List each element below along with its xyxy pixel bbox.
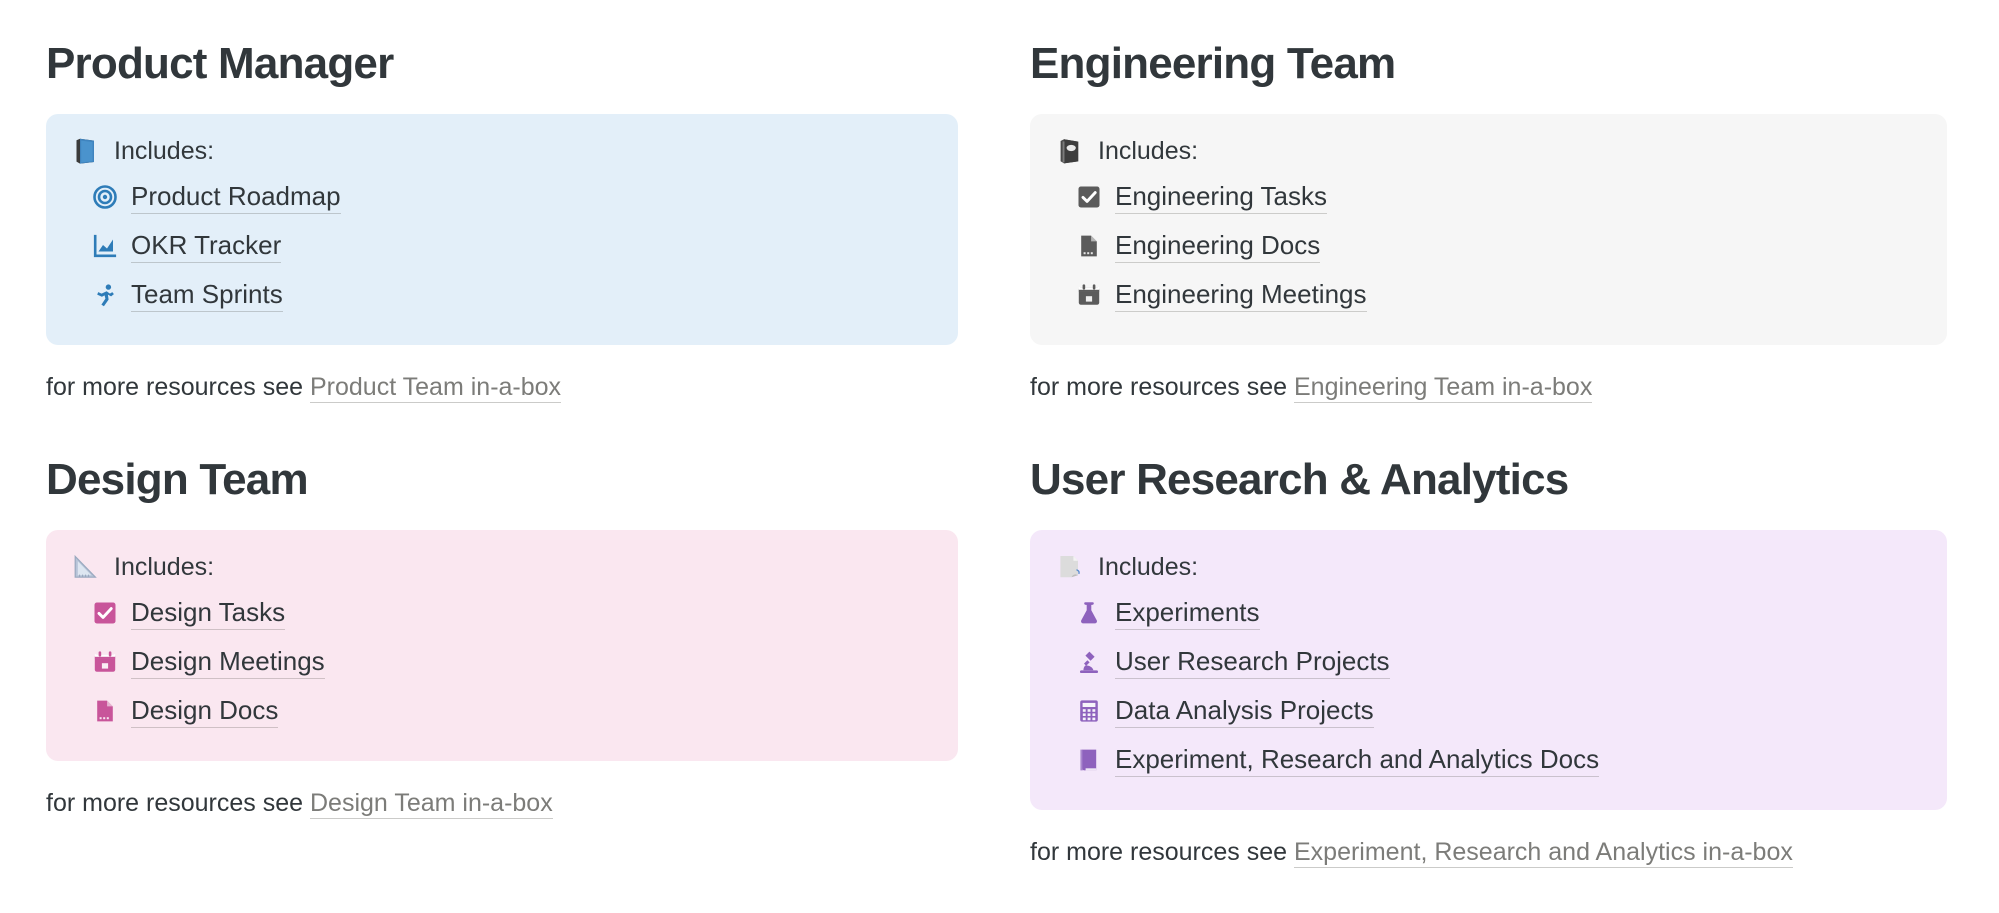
page-root: Product ManagerIncludes:Product RoadmapO…: [0, 0, 1999, 913]
includes-list: Engineering TasksEngineering DocsEnginee…: [1054, 172, 1921, 319]
list-item[interactable]: Engineering Meetings: [1076, 270, 1921, 319]
list-item[interactable]: User Research Projects: [1076, 637, 1921, 686]
item-link[interactable]: OKR Tracker: [131, 229, 281, 264]
item-link[interactable]: Engineering Tasks: [1115, 180, 1327, 215]
section-product-manager: Product ManagerIncludes:Product RoadmapO…: [46, 40, 958, 404]
flask-icon: [1076, 600, 1102, 626]
list-item[interactable]: Experiments: [1076, 588, 1921, 637]
footnote: for more resources see Design Team in-a-…: [46, 787, 958, 820]
footnote-link[interactable]: Product Team in-a-box: [310, 373, 561, 403]
microscope-icon: [1076, 649, 1102, 675]
section-user-research-analytics: User Research & AnalyticsIncludes:Experi…: [1030, 456, 1947, 869]
sections-grid: Product ManagerIncludes:Product RoadmapO…: [0, 0, 1999, 869]
target-icon: [92, 184, 118, 210]
closed-book-icon: [70, 136, 100, 166]
section-title-design-team: Design Team: [46, 456, 958, 504]
card-engineering-team: Includes:Engineering TasksEngineering Do…: [1030, 114, 1947, 345]
item-link[interactable]: Engineering Docs: [1115, 229, 1320, 264]
list-item[interactable]: Engineering Docs: [1076, 221, 1921, 270]
includes-list: Design TasksDesign MeetingsDesign Docs: [70, 588, 932, 735]
footnote-prefix: for more resources see: [46, 373, 303, 401]
footnote-link[interactable]: Design Team in-a-box: [310, 789, 553, 819]
section-title-engineering-team: Engineering Team: [1030, 40, 1947, 88]
item-link[interactable]: Experiments: [1115, 596, 1260, 631]
includes-label: Includes:: [114, 552, 214, 582]
calendar-icon: [1076, 282, 1102, 308]
chart-increasing-icon: [92, 233, 118, 259]
card-design-team: Includes:Design TasksDesign MeetingsDesi…: [46, 530, 958, 761]
list-item[interactable]: Design Meetings: [92, 637, 932, 686]
page-with-curl-icon: [1054, 552, 1084, 582]
footnote: for more resources see Product Team in-a…: [46, 371, 958, 404]
notebook-icon: [1054, 136, 1084, 166]
footnote-prefix: for more resources see: [1030, 838, 1287, 866]
list-item[interactable]: Design Tasks: [92, 588, 932, 637]
item-link[interactable]: Engineering Meetings: [1115, 278, 1367, 313]
item-link[interactable]: Experiment, Research and Analytics Docs: [1115, 743, 1599, 778]
checkbox-checked-icon: [1076, 184, 1102, 210]
item-link[interactable]: Design Docs: [131, 694, 278, 729]
item-link[interactable]: User Research Projects: [1115, 645, 1390, 680]
footnote: for more resources see Experiment, Resea…: [1030, 836, 1947, 869]
section-engineering-team: Engineering TeamIncludes:Engineering Tas…: [1030, 40, 1947, 404]
list-item[interactable]: Product Roadmap: [92, 172, 932, 221]
card-user-research-analytics: Includes:ExperimentsUser Research Projec…: [1030, 530, 1947, 810]
includes-label: Includes:: [1098, 136, 1198, 166]
footnote-link[interactable]: Engineering Team in-a-box: [1294, 373, 1592, 403]
runner-icon: [92, 282, 118, 308]
book-icon: [1076, 747, 1102, 773]
list-item[interactable]: Design Docs: [92, 686, 932, 735]
card-product-manager: Includes:Product RoadmapOKR TrackerTeam …: [46, 114, 958, 345]
item-link[interactable]: Design Meetings: [131, 645, 325, 680]
footnote-prefix: for more resources see: [1030, 373, 1287, 401]
footnote: for more resources see Engineering Team …: [1030, 371, 1947, 404]
card-header: Includes:: [70, 136, 932, 166]
document-icon: [1076, 233, 1102, 259]
list-item[interactable]: Data Analysis Projects: [1076, 686, 1921, 735]
row-spacer: [46, 404, 1947, 456]
document-icon: [92, 698, 118, 724]
footnote-prefix: for more resources see: [46, 789, 303, 817]
includes-label: Includes:: [114, 136, 214, 166]
calendar-icon: [92, 649, 118, 675]
list-item[interactable]: Engineering Tasks: [1076, 172, 1921, 221]
footnote-link[interactable]: Experiment, Research and Analytics in-a-…: [1294, 838, 1793, 868]
card-header: Includes:: [70, 552, 932, 582]
card-header: Includes:: [1054, 552, 1921, 582]
list-item[interactable]: OKR Tracker: [92, 221, 932, 270]
list-item[interactable]: Team Sprints: [92, 270, 932, 319]
item-link[interactable]: Data Analysis Projects: [1115, 694, 1374, 729]
triangular-ruler-icon: [70, 552, 100, 582]
card-header: Includes:: [1054, 136, 1921, 166]
includes-list: Product RoadmapOKR TrackerTeam Sprints: [70, 172, 932, 319]
item-link[interactable]: Design Tasks: [131, 596, 285, 631]
includes-list: ExperimentsUser Research ProjectsData An…: [1054, 588, 1921, 784]
item-link[interactable]: Product Roadmap: [131, 180, 341, 215]
calculator-icon: [1076, 698, 1102, 724]
section-design-team: Design TeamIncludes:Design TasksDesign M…: [46, 456, 958, 869]
includes-label: Includes:: [1098, 552, 1198, 582]
checkbox-checked-icon: [92, 600, 118, 626]
item-link[interactable]: Team Sprints: [131, 278, 283, 313]
list-item[interactable]: Experiment, Research and Analytics Docs: [1076, 735, 1921, 784]
section-title-user-research-analytics: User Research & Analytics: [1030, 456, 1947, 504]
section-title-product-manager: Product Manager: [46, 40, 958, 88]
